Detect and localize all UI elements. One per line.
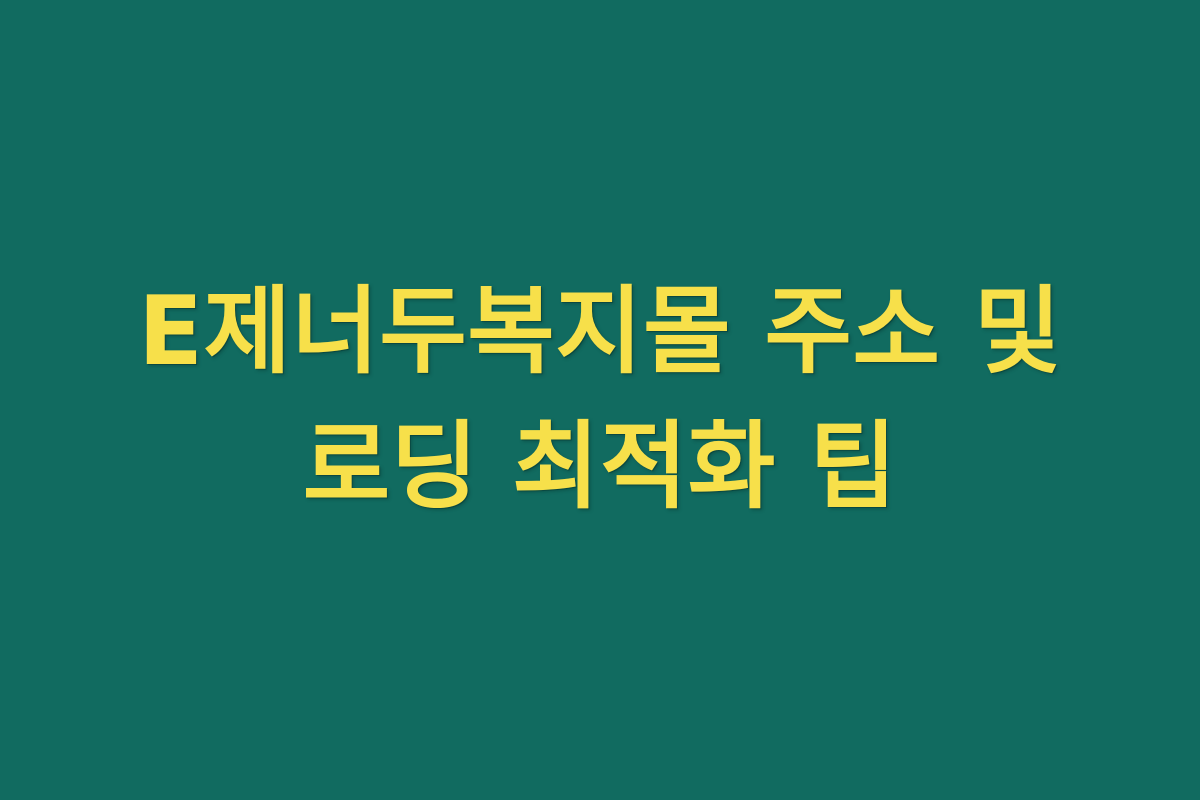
title-line-1: E제너두복지몰 주소 및 [60, 265, 1140, 400]
title-line-2: 로딩 최적화 팁 [60, 400, 1140, 535]
title-card: E제너두복지몰 주소 및 로딩 최적화 팁 [0, 0, 1200, 800]
title-block: E제너두복지몰 주소 및 로딩 최적화 팁 [60, 265, 1140, 535]
